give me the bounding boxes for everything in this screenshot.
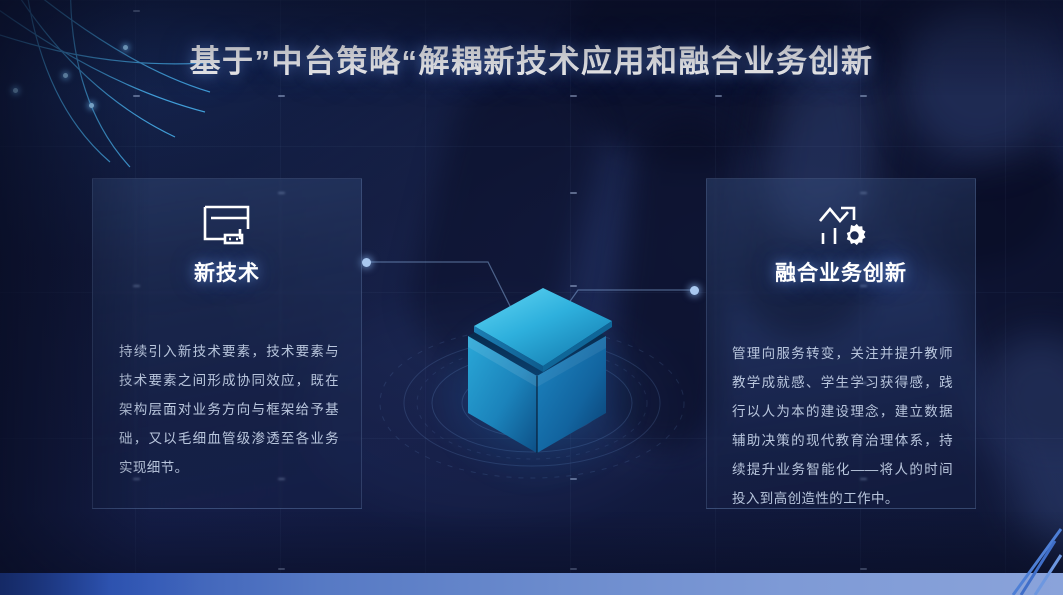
slide-canvas: 基于”中台策略“解耦新技术应用和融合业务创新 新技术 持续引入新技术要素，技术要…: [0, 0, 1063, 595]
card-title: 新技术: [93, 257, 361, 287]
card-business-innovation[interactable]: 融合业务创新 管理向服务转变，关注并提升教师教学成就感、学生学习获得感，践行以人…: [706, 178, 976, 509]
corner-stripes-decoration: [943, 525, 1063, 595]
card-title: 融合业务创新: [707, 257, 975, 287]
business-innovation-growth-gear-icon: [707, 203, 975, 255]
bottom-bar-shine: [0, 573, 200, 595]
card-body-text: 管理向服务转变，关注并提升教师教学成就感、学生学习获得感，践行以人为本的建设理念…: [732, 339, 953, 513]
card-body-text: 持续引入新技术要素，技术要素与技术要素之间形成协同效应，既在架构层面对业务方向与…: [119, 337, 339, 482]
card-new-technology[interactable]: 新技术 持续引入新技术要素，技术要素与技术要素之间形成协同效应，既在架构层面对业…: [92, 178, 362, 509]
connector-dot-left: [362, 258, 371, 267]
new-technology-icon: [93, 203, 361, 255]
center-cube-graphic: [452, 288, 622, 463]
page-title: 基于”中台策略“解耦新技术应用和融合业务创新: [0, 36, 1063, 81]
connector-dot-right: [690, 286, 699, 295]
